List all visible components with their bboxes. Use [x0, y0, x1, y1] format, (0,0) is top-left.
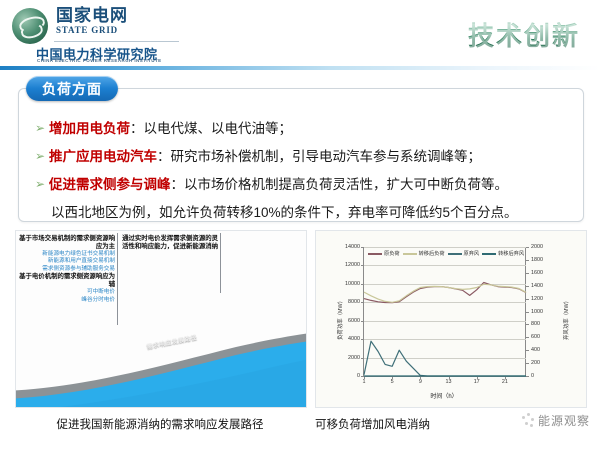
chart-y-tick-right: 1400 [531, 283, 543, 289]
chart-legend-label: 原负荷 [384, 250, 400, 257]
chart-legend-label: 转移后负荷 [419, 250, 445, 257]
chart-y-tickmark-right [526, 324, 529, 325]
chart-x-tick: 13 [446, 379, 452, 385]
chart-legend-item: 转移后弃风 [482, 250, 524, 257]
list-item: ➢ 推广应用电动汽车：研究市场补偿机制，引导电动汽车参与系统调峰等； [35, 147, 571, 166]
chart-legend-swatch [368, 253, 382, 255]
chart-series-原弃风 [364, 341, 526, 376]
diagram-divider-2 [220, 233, 221, 293]
chart-x-tick: 17 [474, 379, 480, 385]
bullet-body: ：以电代煤、以电代油等； [130, 121, 292, 136]
chart-legend-swatch [448, 253, 462, 255]
chart-caption: 可移负荷增加风电消纳 [315, 416, 525, 432]
chart-y-tick-left: 8000 [348, 299, 360, 305]
bullet-body: ：研究市场补偿机制，引导电动汽车参与系统调峰等； [157, 149, 481, 164]
list-item: ➢ 增加用电负荷：以电代煤、以电代油等； [35, 119, 571, 138]
chart-legend-item: 原弃风 [448, 250, 480, 257]
watermark: 能源观察 [520, 412, 590, 429]
chart-y-tick-right: 1200 [531, 296, 543, 302]
chart-series-layer [364, 247, 526, 376]
bullet-heading: 促进需求侧参与调峰 [49, 177, 171, 192]
bullet-note: 以西北地区为例，如允许负荷转移10%的条件下，弃电率可降低约5个百分点。 [51, 203, 571, 222]
slide-root: 国家电网 STATE GRID 中国电力科学研究院 CHINA ELECTRIC… [0, 0, 600, 450]
content-card: ➢ 增加用电负荷：以电代煤、以电代油等； ➢ 推广应用电动汽车：研究市场补偿机制… [18, 88, 584, 222]
chart-legend: 原负荷转移后负荷原弃风转移后弃风 [368, 250, 524, 257]
chart-y-tick-right: 1000 [531, 309, 543, 315]
chart-y-tick-right: 0 [531, 373, 534, 379]
watermark-text: 能源观察 [538, 412, 590, 429]
list-item: ➢ 促进需求侧参与调峰：以市场价格机制提高负荷灵活性，扩大可中断负荷等。 [35, 175, 571, 194]
bullet-heading: 增加用电负荷 [49, 121, 130, 136]
state-grid-logo-icon [12, 8, 48, 44]
diagram-column-2: 通过实时电价发挥需求侧资源的灵活性和响应能力，促进新能源消纳 [122, 235, 218, 252]
chart-y-tick-left: 0 [357, 373, 360, 379]
institute-name-en: CHINA ELECTRIC POWER RESEARCH INSTITUTE [37, 58, 162, 63]
brand-name-cn: 国家电网 [56, 6, 128, 25]
chart-y-tick-left: 10000 [345, 281, 360, 287]
chart-y-tickmark-right [526, 299, 529, 300]
diagram-col1-sub-1: 新能源和用户直接交易机制 [19, 258, 115, 265]
chart-y-tick-right: 600 [531, 334, 540, 340]
bullet-text: 增加用电负荷：以电代煤、以电代油等； [49, 119, 292, 138]
chart-legend-label: 转移后弃风 [498, 250, 524, 257]
chart-y-tickmark-right [526, 337, 529, 338]
chart-legend-swatch [403, 253, 417, 255]
chart-y-axis-label-left: 负荷功率（MW） [336, 298, 344, 340]
bullet-list: ➢ 增加用电负荷：以电代煤、以电代油等； ➢ 推广应用电动汽车：研究市场补偿机制… [35, 119, 571, 222]
chart-y-tick-left: 6000 [348, 318, 360, 324]
chart-y-axis-label-right: 弃风功率（MW） [562, 298, 570, 340]
chart-y-tickmark-right [526, 363, 529, 364]
chart-y-tick-left: 12000 [345, 262, 360, 268]
bullet-text: 推广应用电动汽车：研究市场补偿机制，引导电动汽车参与系统调峰等； [49, 147, 481, 166]
chart-legend-item: 转移后负荷 [403, 250, 445, 257]
arrow-bullet-icon: ➢ [35, 119, 49, 138]
chart-series-转移后负荷 [364, 284, 526, 302]
load-wind-chart: 负荷功率（MW） 弃风功率（MW） 0200040006000800010000… [316, 231, 586, 407]
chart-x-tick: 21 [502, 379, 508, 385]
chart-y-tickmark-right [526, 247, 529, 248]
chart-y-tick-right: 1800 [531, 257, 543, 263]
chart-x-tick: 1 [363, 379, 366, 385]
chart-y-tick-right: 200 [531, 360, 540, 366]
arrow-bullet-icon: ➢ [35, 175, 49, 194]
chart-y-tick-left: 4000 [348, 336, 360, 342]
chart-legend-swatch [482, 253, 496, 255]
diagram-col2-title: 通过实时电价发挥需求侧资源的灵活性和响应能力，促进新能源消纳 [122, 235, 218, 252]
chart-y-tick-right: 400 [531, 347, 540, 353]
chart-legend-label: 原弃风 [464, 250, 480, 257]
chart-y-tickmark-right [526, 376, 529, 377]
roadmap-diagram: 需求响应发展路径 基于市场交易机制的需求侧资源响应为主 新能源电力绿色证书交易机… [16, 231, 306, 407]
chart-panel: 负荷功率（MW） 弃风功率（MW） 0200040006000800010000… [315, 230, 587, 408]
chart-x-tick: 9 [419, 379, 422, 385]
diagram-col1-title: 基于市场交易机制的需求侧资源响应为主 [19, 235, 115, 251]
bullet-text: 促进需求侧参与调峰：以市场价格机制提高负荷灵活性，扩大可中断负荷等。 [49, 175, 508, 194]
watermark-icon [520, 413, 535, 428]
chart-y-tickmark-right [526, 260, 529, 261]
diagram-col1-sub2-1: 峰谷分时电价 [19, 297, 115, 304]
diagram-divider-1 [117, 233, 118, 325]
brand-logo: 国家电网 STATE GRID [12, 6, 128, 44]
chart-y-tick-left: 14000 [345, 244, 360, 250]
chart-series-原负荷 [364, 283, 526, 303]
chart-y-tickmark-right [526, 286, 529, 287]
diagram-column-1: 基于市场交易机制的需求侧资源响应为主 新能源电力绿色证书交易机制 新能源和用户直… [19, 235, 115, 304]
brand-divider [54, 41, 179, 42]
brand-text: 国家电网 STATE GRID [56, 6, 128, 36]
diagram-col1-title2: 基于电价机制的需求侧资源响应为辅 [19, 273, 115, 289]
page-title: 技术创新 [468, 16, 580, 53]
chart-x-tick: 5 [391, 379, 394, 385]
chart-y-tick-left: 2000 [348, 355, 360, 361]
header-divider-bar [0, 66, 600, 70]
bullet-body: ：以市场价格机制提高负荷灵活性，扩大可中断负荷等。 [171, 177, 509, 192]
chart-y-tickmark-right [526, 350, 529, 351]
chart-y-tick-right: 1600 [531, 270, 543, 276]
slide-header: 国家电网 STATE GRID 中国电力科学研究院 CHINA ELECTRIC… [0, 0, 600, 66]
chart-y-tick-right: 800 [531, 321, 540, 327]
diagram-caption: 促进我国新能源消纳的需求响应发展路径 [15, 416, 305, 432]
diagram-col1-sub2-0: 可中断电价 [19, 289, 115, 296]
chart-y-tickmark-right [526, 312, 529, 313]
roadmap-diagram-panel: 需求响应发展路径 基于市场交易机制的需求侧资源响应为主 新能源电力绿色证书交易机… [15, 230, 307, 408]
chart-legend-item: 原负荷 [368, 250, 400, 257]
chart-x-axis-label: 时间（h） [363, 391, 525, 400]
chart-y-tickmark-right [526, 273, 529, 274]
section-badge: 负荷方面 [26, 76, 118, 101]
chart-plot-area: 0200040006000800010000120001400002004006… [363, 247, 526, 377]
chart-y-tick-right: 2000 [531, 244, 543, 250]
brand-name-en: STATE GRID [56, 25, 128, 36]
bullet-heading: 推广应用电动汽车 [49, 149, 157, 164]
arrow-bullet-icon: ➢ [35, 147, 49, 166]
